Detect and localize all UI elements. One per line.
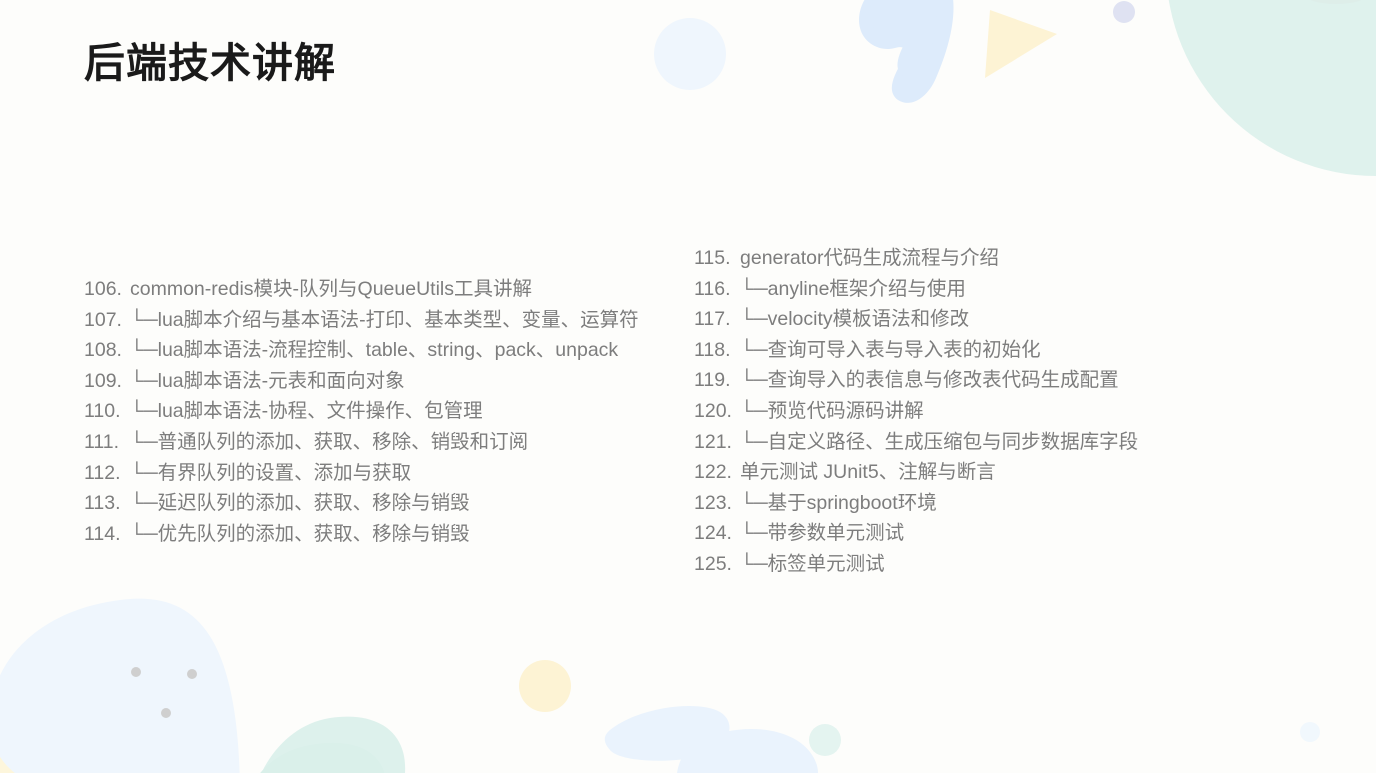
toc-item: 124.└─带参数单元测试 xyxy=(694,518,1214,549)
toc-item-number: 120. xyxy=(694,396,740,427)
toc-item-label: └─自定义路径、生成压缩包与同步数据库字段 xyxy=(740,427,1138,458)
toc-item-label: └─预览代码源码讲解 xyxy=(740,396,924,427)
toc-item-number: 110. xyxy=(84,396,130,427)
toc-item-number: 118. xyxy=(694,335,740,366)
toc-item-number: 115. xyxy=(694,243,740,274)
toc-item: 108.└─lua脚本语法-流程控制、table、string、pack、unp… xyxy=(84,335,684,366)
toc-item-number: 112. xyxy=(84,458,130,489)
slide-content: 后端技术讲解 106.common-redis模块-队列与QueueUtils工… xyxy=(0,0,1376,773)
toc-left-column: 106.common-redis模块-队列与QueueUtils工具讲解107.… xyxy=(84,274,684,549)
toc-item: 107.└─lua脚本介绍与基本语法-打印、基本类型、变量、运算符 xyxy=(84,305,684,336)
toc-item-label: generator代码生成流程与介绍 xyxy=(740,243,999,274)
toc-item: 110.└─lua脚本语法-协程、文件操作、包管理 xyxy=(84,396,684,427)
toc-item-label: common-redis模块-队列与QueueUtils工具讲解 xyxy=(130,274,532,305)
toc-item-label: └─基于springboot环境 xyxy=(740,488,937,519)
toc-item: 111.└─普通队列的添加、获取、移除、销毁和订阅 xyxy=(84,427,684,458)
slide-canvas: 后端技术讲解 106.common-redis模块-队列与QueueUtils工… xyxy=(0,0,1376,773)
toc-item: 117.└─velocity模板语法和修改 xyxy=(694,304,1214,335)
toc-item-number: 107. xyxy=(84,305,130,336)
toc-item-label: └─lua脚本语法-协程、文件操作、包管理 xyxy=(130,396,483,427)
toc-item-label: └─anyline框架介绍与使用 xyxy=(740,274,966,305)
toc-item-label: └─标签单元测试 xyxy=(740,549,885,580)
toc-item: 121.└─自定义路径、生成压缩包与同步数据库字段 xyxy=(694,427,1214,458)
toc-item-number: 121. xyxy=(694,427,740,458)
toc-item-label: └─延迟队列的添加、获取、移除与销毁 xyxy=(130,488,470,519)
toc-item-label: └─有界队列的设置、添加与获取 xyxy=(130,458,411,489)
toc-item-number: 106. xyxy=(84,274,130,305)
toc-item-number: 123. xyxy=(694,488,740,519)
toc-right-column: 115.generator代码生成流程与介绍116.└─anyline框架介绍与… xyxy=(694,243,1214,580)
table-of-contents: 106.common-redis模块-队列与QueueUtils工具讲解107.… xyxy=(0,0,1376,773)
toc-item-number: 125. xyxy=(694,549,740,580)
toc-item-number: 111. xyxy=(84,427,130,458)
toc-item: 123.└─基于springboot环境 xyxy=(694,488,1214,519)
toc-item-label: └─优先队列的添加、获取、移除与销毁 xyxy=(130,519,470,550)
toc-item-number: 114. xyxy=(84,519,130,550)
toc-item: 125.└─标签单元测试 xyxy=(694,549,1214,580)
toc-item-label: 单元测试 JUnit5、注解与断言 xyxy=(740,457,996,488)
toc-item: 106.common-redis模块-队列与QueueUtils工具讲解 xyxy=(84,274,684,305)
toc-item: 120.└─预览代码源码讲解 xyxy=(694,396,1214,427)
toc-item: 118.└─查询可导入表与导入表的初始化 xyxy=(694,335,1214,366)
toc-item-number: 108. xyxy=(84,335,130,366)
toc-item-label: └─lua脚本语法-元表和面向对象 xyxy=(130,366,405,397)
toc-item-number: 124. xyxy=(694,518,740,549)
toc-item-label: └─查询导入的表信息与修改表代码生成配置 xyxy=(740,365,1119,396)
toc-item: 115.generator代码生成流程与介绍 xyxy=(694,243,1214,274)
toc-item-number: 117. xyxy=(694,304,740,335)
toc-item-label: └─带参数单元测试 xyxy=(740,518,904,549)
toc-item: 114.└─优先队列的添加、获取、移除与销毁 xyxy=(84,519,684,550)
toc-item-label: └─普通队列的添加、获取、移除、销毁和订阅 xyxy=(130,427,528,458)
toc-item-label: └─lua脚本语法-流程控制、table、string、pack、unpack xyxy=(130,335,618,366)
toc-item-number: 109. xyxy=(84,366,130,397)
toc-item-number: 119. xyxy=(694,365,740,396)
toc-item: 112.└─有界队列的设置、添加与获取 xyxy=(84,458,684,489)
toc-item: 116.└─anyline框架介绍与使用 xyxy=(694,274,1214,305)
toc-item: 113.└─延迟队列的添加、获取、移除与销毁 xyxy=(84,488,684,519)
toc-item: 122.单元测试 JUnit5、注解与断言 xyxy=(694,457,1214,488)
toc-item-number: 122. xyxy=(694,457,740,488)
toc-item: 119.└─查询导入的表信息与修改表代码生成配置 xyxy=(694,365,1214,396)
toc-item-label: └─velocity模板语法和修改 xyxy=(740,304,969,335)
toc-item: 109.└─lua脚本语法-元表和面向对象 xyxy=(84,366,684,397)
toc-item-label: └─lua脚本介绍与基本语法-打印、基本类型、变量、运算符 xyxy=(130,305,639,336)
toc-item-label: └─查询可导入表与导入表的初始化 xyxy=(740,335,1041,366)
toc-item-number: 113. xyxy=(84,488,130,519)
toc-item-number: 116. xyxy=(694,274,740,305)
